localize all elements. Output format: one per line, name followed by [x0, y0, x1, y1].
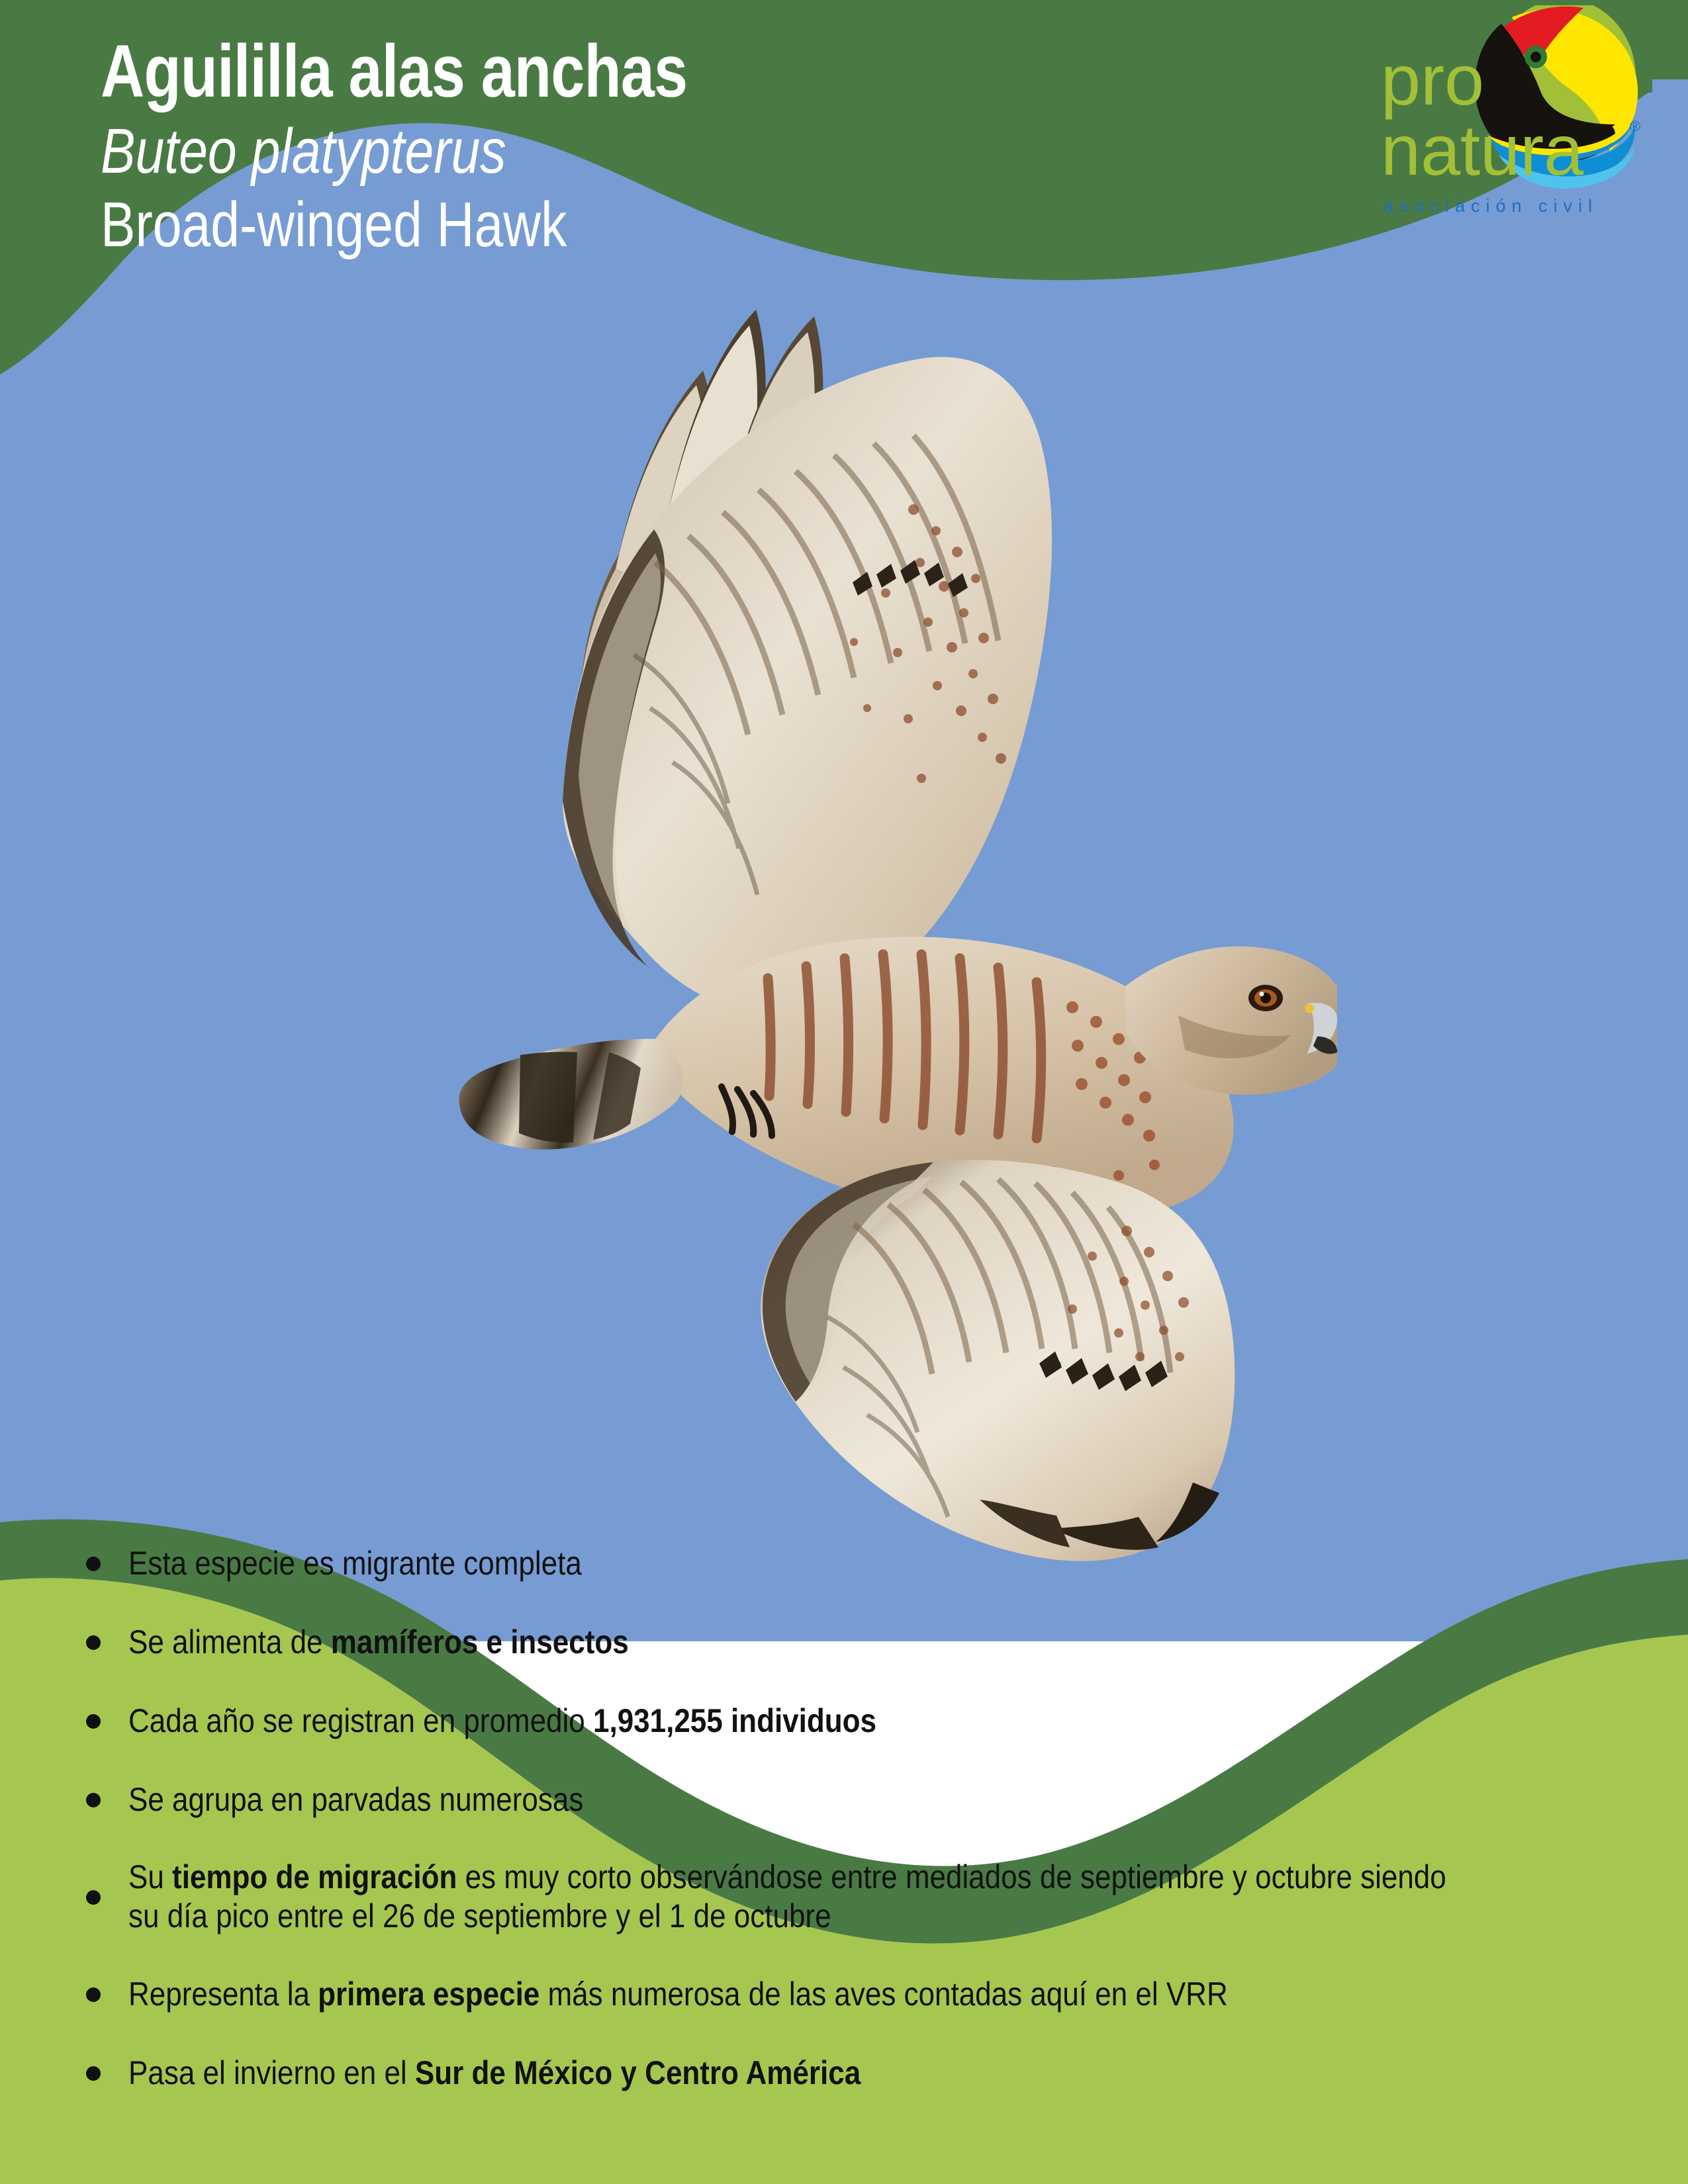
bullet-icon [86, 1714, 101, 1729]
list-item: Su tiempo de migración es muy corto obse… [86, 1854, 1628, 1940]
species-poster: Aguililla alas anchas Buteo platypterus … [0, 0, 1688, 2184]
logo-tagline: asociación civil [1383, 196, 1598, 216]
bullet-icon [86, 2066, 101, 2081]
fact-text: Pasa el invierno en el Sur de México y C… [128, 2054, 861, 2093]
bullet-icon [86, 1635, 101, 1650]
list-item: Esta especie es migrante completa [86, 1539, 1628, 1588]
header-text-block: Aguililla alas anchas Buteo platypterus … [101, 32, 1094, 261]
logo-word-pro: pro [1381, 40, 1484, 120]
bullet-icon [86, 1557, 101, 1571]
fact-text: Se agrupa en parvadas numerosas [128, 1780, 583, 1819]
fact-text: Esta especie es migrante completa [128, 1544, 582, 1583]
species-name-english: Broad-winged Hawk [101, 189, 915, 261]
pronatura-logo[interactable]: ® pro natura asociación civil [1342, 5, 1654, 244]
list-item: Pasa el invierno en el Sur de México y C… [86, 2048, 1628, 2097]
logo-word-natura: natura [1381, 110, 1584, 190]
list-item: Cada año se registran en promedio 1,931,… [86, 1696, 1628, 1745]
list-item: Se agrupa en parvadas numerosas [86, 1775, 1628, 1824]
bullet-icon [86, 1987, 101, 2002]
list-item: Representa la primera especie más numero… [86, 1970, 1628, 2019]
fact-text: Cada año se registran en promedio 1,931,… [128, 1702, 876, 1741]
bullet-icon [86, 1793, 101, 1807]
fact-text: Se alimenta de mamíferos e insectos [128, 1623, 629, 1662]
fact-text: Su tiempo de migración es muy corto obse… [128, 1858, 1448, 1936]
fact-text: Representa la primera especie más numero… [128, 1975, 1228, 2014]
scientific-name: Buteo platypterus [101, 116, 915, 187]
species-name-spanish: Aguililla alas anchas [101, 32, 915, 112]
facts-list: Esta especie es migrante completa Se ali… [86, 1539, 1628, 2127]
list-item: Se alimenta de mamíferos e insectos [86, 1617, 1628, 1666]
bullet-icon [86, 1890, 101, 1905]
trademark-symbol: ® [1630, 118, 1640, 134]
